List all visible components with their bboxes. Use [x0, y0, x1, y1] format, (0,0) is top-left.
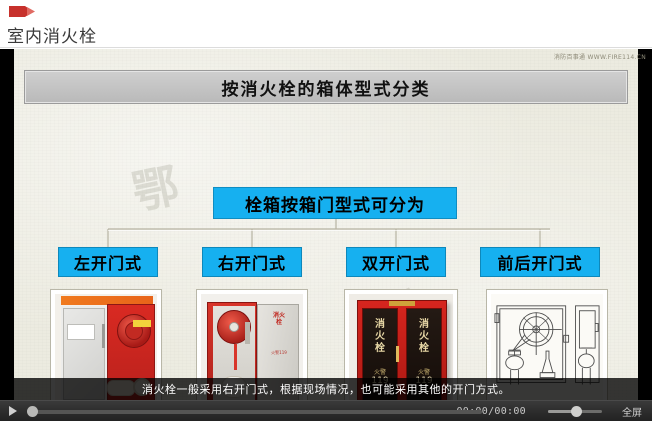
- category-label-right-opening[interactable]: 右开门式: [202, 247, 302, 277]
- category-label-left-opening[interactable]: 左开门式: [58, 247, 158, 277]
- caption-bar: 消火栓一般采用右开门式，根据现场情况，也可能采用其他的开门方式。: [0, 378, 652, 400]
- pane-char-2: 火: [375, 331, 385, 343]
- slide-subtitle-box: 栓箱按箱门型式可分为: [213, 187, 457, 219]
- pane-char-3: 栓: [419, 343, 429, 355]
- cabinet-door-mark: 消火栓: [271, 312, 287, 334]
- player-controls: 00:00/00:00 全屏: [0, 400, 652, 421]
- pane-alarm-label: 火警: [418, 369, 430, 376]
- pane-char-3: 栓: [375, 343, 385, 355]
- video-player[interactable]: 鄂 消防 按消火栓的箱体型式分类 栓箱按箱门型式可分为: [0, 49, 652, 421]
- category-label-text: 前后开门式: [497, 250, 582, 274]
- volume-thumb[interactable]: [571, 406, 582, 417]
- category-label-double-door[interactable]: 双开门式: [346, 247, 446, 277]
- category-label-text: 右开门式: [218, 250, 286, 274]
- fullscreen-button[interactable]: 全屏: [622, 404, 642, 419]
- volume-slider[interactable]: [544, 401, 610, 422]
- slide-watermark-left: 鄂: [126, 149, 187, 224]
- play-icon: [9, 406, 17, 416]
- category-label-text: 双开门式: [362, 250, 430, 274]
- category-label-text: 左开门式: [74, 250, 142, 274]
- pane-char-2: 火: [419, 331, 429, 343]
- seek-track[interactable]: [30, 410, 482, 414]
- category-label-front-rear-opening[interactable]: 前后开门式: [480, 247, 600, 277]
- caption-text: 消火栓一般采用右开门式，根据现场情况，也可能采用其他的开门方式。: [142, 381, 510, 397]
- connector-lines: [14, 217, 638, 247]
- pane-alarm-label: 火警: [374, 369, 386, 376]
- cabinet-door-sub: 火警119: [271, 350, 287, 358]
- slide-subtitle-text: 栓箱按箱门型式可分为: [245, 191, 425, 216]
- seek-bar[interactable]: [26, 401, 448, 422]
- header-divider: [0, 47, 652, 48]
- page-title: 室内消火栓: [7, 22, 97, 47]
- slide-title-text: 按消火栓的箱体型式分类: [222, 75, 431, 100]
- seek-thumb[interactable]: [27, 406, 38, 417]
- video-stage[interactable]: 鄂 消防 按消火栓的箱体型式分类 栓箱按箱门型式可分为: [0, 49, 652, 400]
- page-header: 室内消火栓: [0, 0, 652, 49]
- slide-title-banner: 按消火栓的箱体型式分类: [24, 70, 628, 104]
- video-watermark: 消防百事通 WWW.FIRE114.CN: [554, 52, 646, 61]
- play-triangle-logo-icon: [8, 5, 42, 18]
- pane-char-1: 消: [419, 319, 429, 331]
- play-button[interactable]: [0, 401, 26, 422]
- pane-char-1: 消: [375, 319, 385, 331]
- presentation-slide: 鄂 消防 按消火栓的箱体型式分类 栓箱按箱门型式可分为: [14, 49, 638, 400]
